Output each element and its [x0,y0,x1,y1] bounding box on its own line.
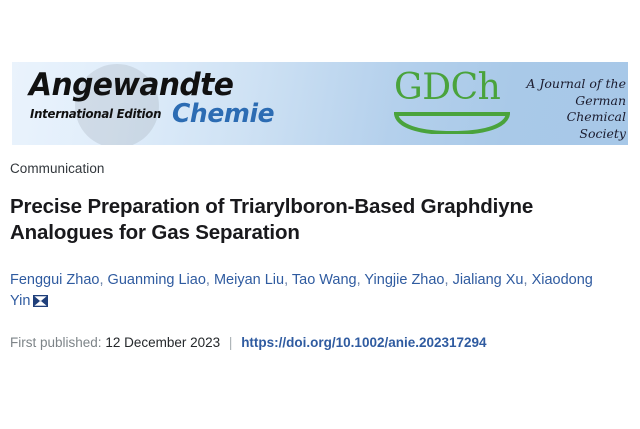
society-tagline-line-3: Chemical Society [522,109,626,142]
author-separator: , [206,272,214,288]
author-link[interactable]: Meiyan Liu [214,272,284,288]
author-link[interactable]: Tao Wang [292,272,357,288]
gdch-arc-icon [394,112,510,134]
journal-edition-label: International Edition [30,108,161,121]
society-tagline: A Journal of the German Chemical Society [522,76,626,142]
first-published-label: First published: [10,335,102,350]
journal-name-chemie: Chemie [172,101,274,127]
author-list: Fenggui Zhao, Guanming Liao, Meiyan Liu,… [10,270,610,312]
publication-date: 12 December 2023 [105,335,220,350]
society-tagline-line-1: A Journal of the [522,76,626,93]
author-separator: , [445,272,453,288]
society-tagline-line-2: German [522,93,626,110]
article-metadata: Communication Precise Preparation of Tri… [10,160,630,352]
author-separator: , [99,272,107,288]
article-type-label: Communication [10,160,630,178]
author-separator: , [284,272,292,288]
gdch-logo-text: GDCh [394,70,500,106]
author-separator: , [524,272,532,288]
author-link[interactable]: Jialiang Xu [453,272,524,288]
page-title: Precise Preparation of Triarylboron-Base… [10,194,622,246]
doi-link[interactable]: https://doi.org/10.1002/anie.202317294 [241,335,486,350]
journal-banner: Angewandte International Edition Chemie … [12,62,628,145]
meta-separator: | [224,335,238,350]
article-header-page: Angewandte International Edition Chemie … [0,0,640,429]
envelope-icon[interactable] [33,293,48,305]
journal-name-angewandte: Angewandte [29,70,233,101]
publication-line: First published: 12 December 2023 | http… [10,333,630,352]
author-link[interactable]: Fenggui Zhao [10,272,99,288]
angewandte-chemie-logo: Angewandte International Edition Chemie [29,70,329,140]
author-link[interactable]: Guanming Liao [108,272,206,288]
author-link[interactable]: Yingjie Zhao [364,272,444,288]
gdch-logo: GDCh [394,70,514,136]
